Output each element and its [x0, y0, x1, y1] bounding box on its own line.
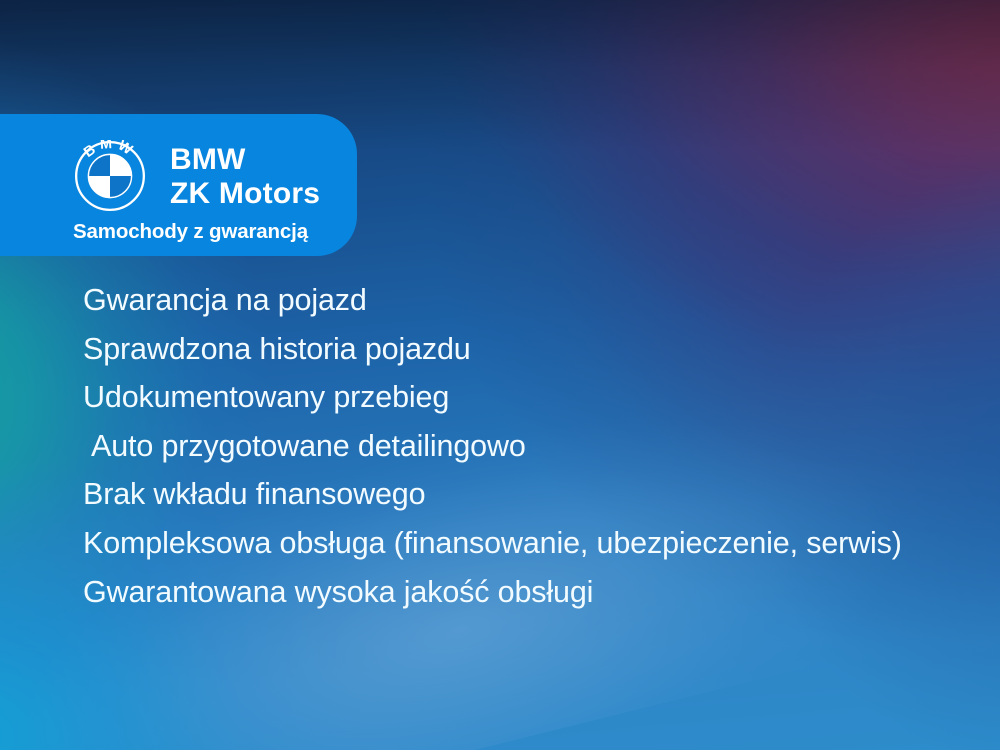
- brand-wordmark: BMW ZK Motors: [170, 143, 320, 211]
- brand-line-2: ZK Motors: [170, 177, 320, 211]
- brand-line-1: BMW: [170, 143, 320, 177]
- brand-badge-inner: BMW BMW ZK Motors Samochody z gwarancją: [0, 131, 357, 256]
- feature-item: Gwarantowana wysoka jakość obsługi: [0, 568, 1000, 617]
- feature-item: Kompleksowa obsługa (finansowanie, ubezp…: [0, 519, 1000, 568]
- feature-item: Sprawdzona historia pojazdu: [0, 325, 1000, 374]
- feature-item: Udokumentowany przebieg: [0, 373, 1000, 422]
- feature-item: Brak wkładu finansowego: [0, 470, 1000, 519]
- brand-tagline: Samochody z gwarancją: [73, 220, 308, 244]
- feature-list: Gwarancja na pojazd Sprawdzona historia …: [0, 276, 1000, 616]
- bmw-roundel-icon: BMW: [74, 140, 146, 212]
- feature-item: Gwarancja na pojazd: [0, 276, 1000, 325]
- brand-badge: BMW BMW ZK Motors Samochody z gwarancją: [0, 114, 357, 256]
- promo-banner: BMW BMW ZK Motors Samochody z gwarancją …: [0, 0, 1000, 750]
- feature-item: Auto przygotowane detailingowo: [0, 422, 1000, 471]
